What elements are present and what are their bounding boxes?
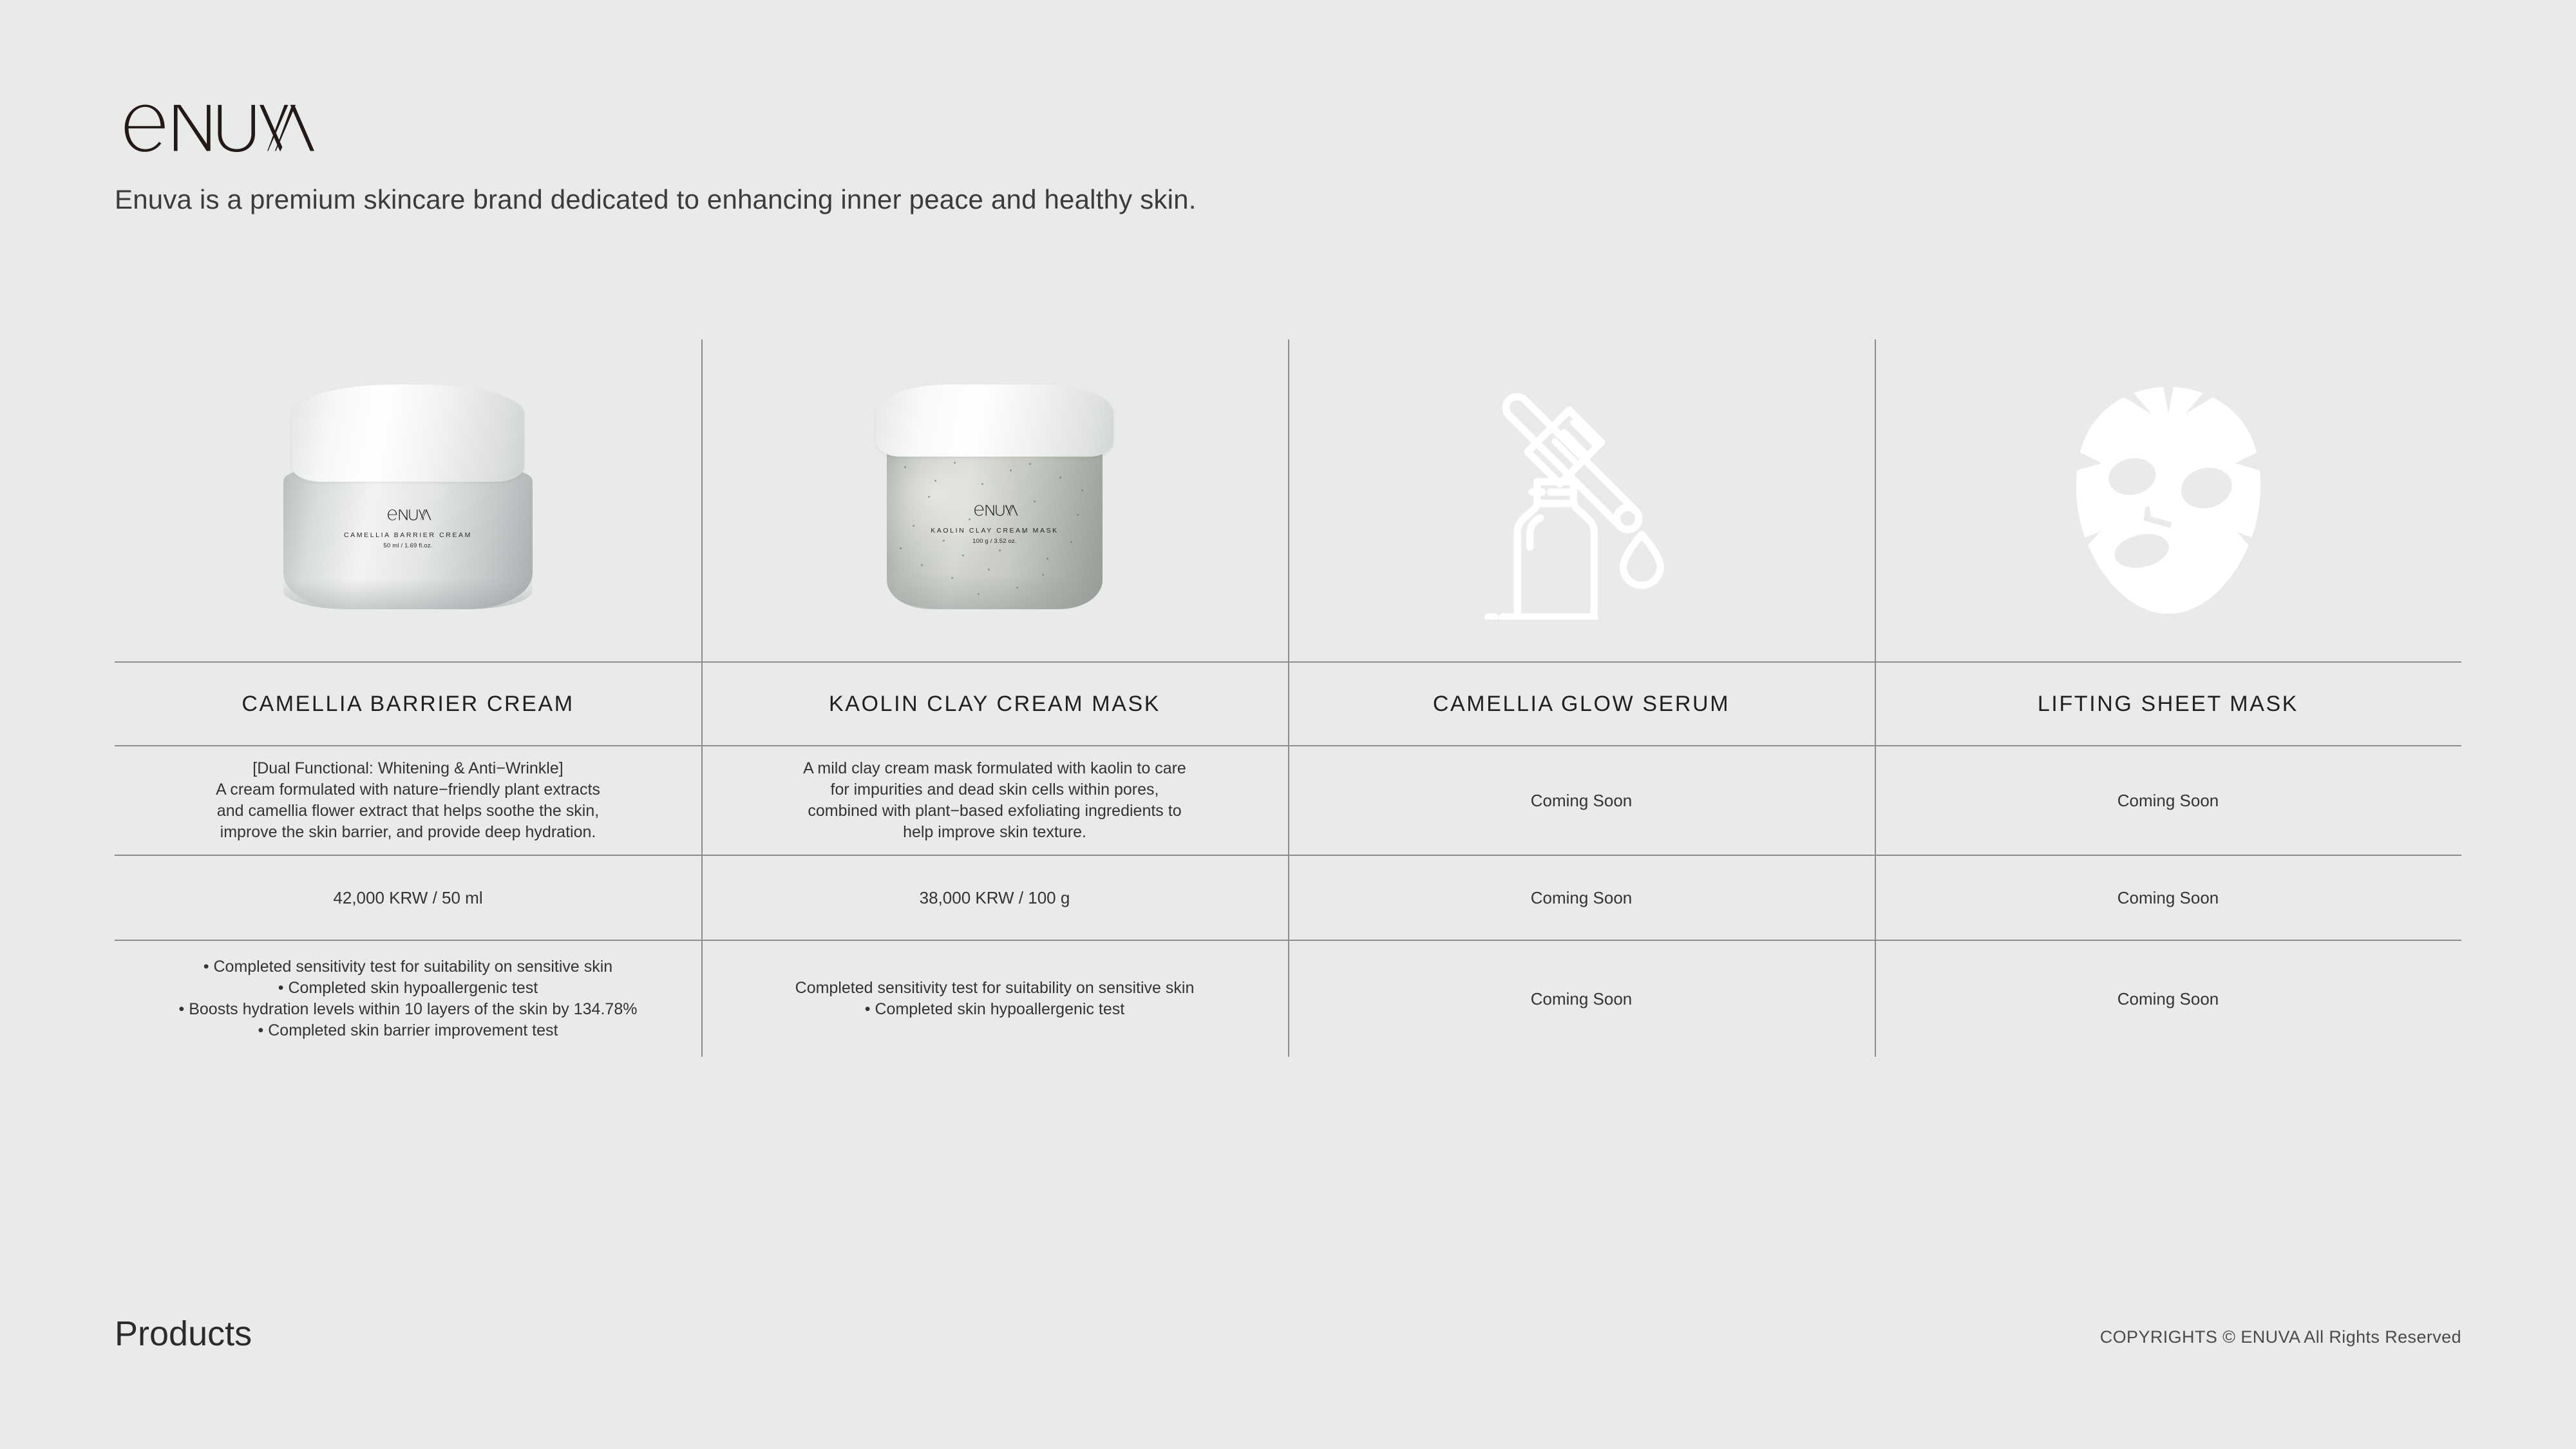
description-cell-2: A mild clay cream mask formulated with k…	[701, 746, 1288, 855]
sheet-mask-icon	[2062, 381, 2275, 620]
product-price: Coming Soon	[2117, 888, 2219, 908]
name-cell-3: CAMELLIA GLOW SERUM	[1288, 663, 1875, 745]
dropper-bottle-icon	[1475, 381, 1688, 620]
footer-section-title: Products	[115, 1314, 252, 1354]
product-title: KAOLIN CLAY CREAM MASK	[829, 692, 1160, 717]
product-price: 42,000 KRW / 50 ml	[333, 887, 482, 909]
name-cell-4: LIFTING SHEET MASK	[1875, 663, 2461, 745]
jar-product-name: KAOLIN CLAY CREAM MASK	[857, 527, 1133, 535]
jar-product-name: CAMELLIA BARRIER CREAM	[270, 531, 547, 539]
jar-lid	[876, 384, 1114, 457]
product-comparison-table: CAMELLIA BARRIER CREAM 50 ml / 1.69 fl.o…	[115, 339, 2461, 1057]
product-features: • Completed sensitivity test for suitabi…	[179, 956, 638, 1042]
product-price: Coming Soon	[1531, 888, 1633, 908]
product-description: [Dual Functional: Whitening & Anti−Wrink…	[216, 758, 600, 844]
name-cell-1: CAMELLIA BARRIER CREAM	[115, 663, 701, 745]
jar-volume: 50 ml / 1.69 fl.oz.	[270, 542, 547, 549]
brand-header: Enuva is a premium skincare brand dedica…	[115, 90, 2047, 215]
product-description-row: [Dual Functional: Whitening & Anti−Wrink…	[115, 746, 2461, 855]
product-price-row: 42,000 KRW / 50 ml 38,000 KRW / 100 g Co…	[115, 856, 2461, 940]
features-cell-1: • Completed sensitivity test for suitabi…	[115, 941, 701, 1057]
product-description: A mild clay cream mask formulated with k…	[803, 758, 1186, 844]
product-cell-camellia-glow-serum[interactable]	[1288, 339, 1875, 661]
product-title: CAMELLIA BARRIER CREAM	[241, 692, 574, 717]
cream-jar-graphic: CAMELLIA BARRIER CREAM 50 ml / 1.69 fl.o…	[270, 384, 547, 616]
price-cell-3: Coming Soon	[1288, 856, 1875, 940]
jar-logo	[270, 505, 547, 524]
product-title: LIFTING SHEET MASK	[2038, 692, 2298, 717]
features-cell-3: Coming Soon	[1288, 941, 1875, 1057]
product-features: Completed sensitivity test for suitabili…	[795, 978, 1195, 1021]
page-footer: Products COPYRIGHTS © ENUVA All Rights R…	[115, 1314, 2461, 1354]
product-price: 38,000 KRW / 100 g	[920, 887, 1070, 909]
copyright-text: COPYRIGHTS © ENUVA All Rights Reserved	[2100, 1327, 2461, 1354]
lifting-sheet-mask-placeholder	[1889, 339, 2447, 661]
product-title: CAMELLIA GLOW SERUM	[1433, 692, 1730, 717]
jar-volume: 100 g / 3.52 oz.	[857, 538, 1133, 545]
description-cell-4: Coming Soon	[1875, 746, 2461, 855]
product-features-row: • Completed sensitivity test for suitabi…	[115, 941, 2461, 1057]
kaolin-clay-cream-mask-photo: KAOLIN CLAY CREAM MASK 100 g / 3.52 oz.	[715, 339, 1274, 661]
jar-label: CAMELLIA BARRIER CREAM 50 ml / 1.69 fl.o…	[270, 505, 547, 549]
camellia-barrier-cream-photo: CAMELLIA BARRIER CREAM 50 ml / 1.69 fl.o…	[129, 339, 687, 661]
price-cell-1: 42,000 KRW / 50 ml	[115, 856, 701, 940]
brand-tagline: Enuva is a premium skincare brand dedica…	[115, 184, 2047, 215]
name-cell-2: KAOLIN CLAY CREAM MASK	[701, 663, 1288, 745]
product-cell-camellia-barrier-cream[interactable]: CAMELLIA BARRIER CREAM 50 ml / 1.69 fl.o…	[115, 339, 701, 661]
features-cell-2: Completed sensitivity test for suitabili…	[701, 941, 1288, 1057]
clay-jar-graphic: KAOLIN CLAY CREAM MASK 100 g / 3.52 oz.	[857, 384, 1133, 616]
price-cell-4: Coming Soon	[1875, 856, 2461, 940]
description-cell-1: [Dual Functional: Whitening & Anti−Wrink…	[115, 746, 701, 855]
product-image-row: CAMELLIA BARRIER CREAM 50 ml / 1.69 fl.o…	[115, 339, 2461, 661]
features-cell-4: Coming Soon	[1875, 941, 2461, 1057]
product-cell-lifting-sheet-mask[interactable]	[1875, 339, 2461, 661]
enuva-logo	[115, 90, 2047, 167]
product-description: Coming Soon	[1531, 791, 1633, 811]
product-name-row: CAMELLIA BARRIER CREAM KAOLIN CLAY CREAM…	[115, 663, 2461, 745]
jar-logo	[857, 500, 1133, 519]
product-cell-kaolin-clay-cream-mask[interactable]: KAOLIN CLAY CREAM MASK 100 g / 3.52 oz.	[701, 339, 1288, 661]
jar-label: KAOLIN CLAY CREAM MASK 100 g / 3.52 oz.	[857, 500, 1133, 545]
product-features: Coming Soon	[2117, 989, 2219, 1009]
product-features: Coming Soon	[1531, 989, 1633, 1009]
product-description: Coming Soon	[2117, 791, 2219, 811]
camellia-glow-serum-placeholder	[1302, 339, 1861, 661]
price-cell-2: 38,000 KRW / 100 g	[701, 856, 1288, 940]
description-cell-3: Coming Soon	[1288, 746, 1875, 855]
jar-lid	[292, 384, 524, 482]
